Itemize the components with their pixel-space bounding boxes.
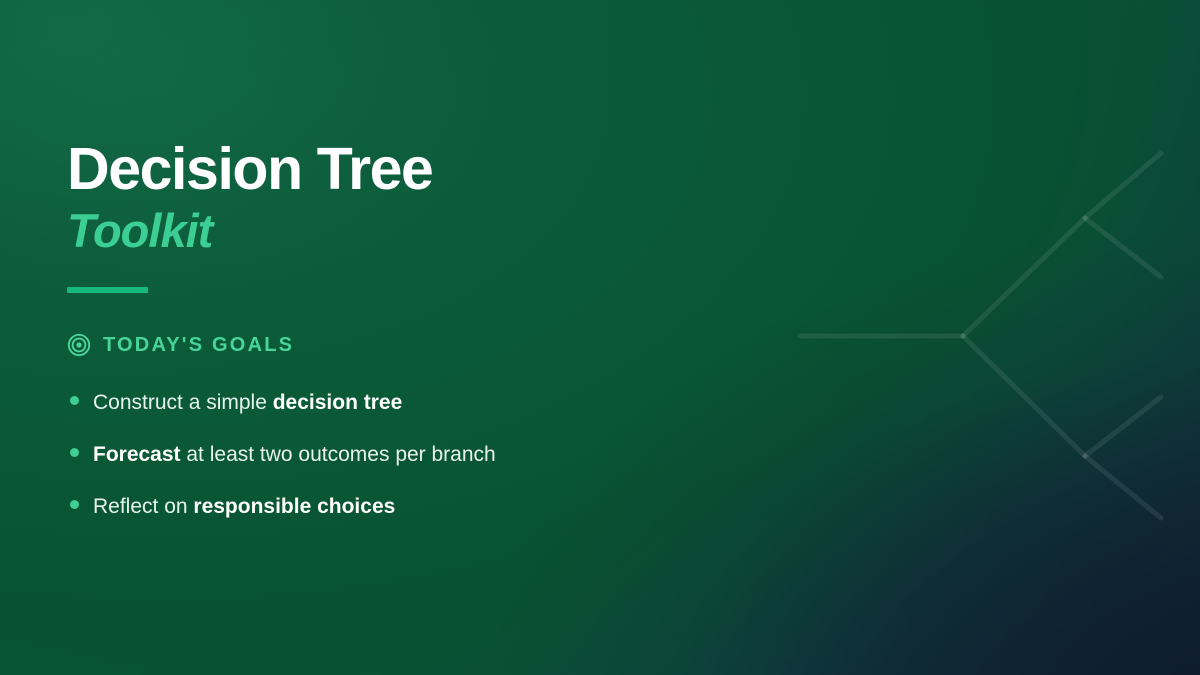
goal-strong: responsible choices (193, 495, 395, 518)
tree-leaf-lower-a (1085, 397, 1161, 456)
accent-rule (67, 287, 148, 293)
list-item: Reflect on responsible choices (70, 492, 690, 522)
goal-text: Reflect on responsible choices (93, 492, 395, 522)
list-item: Forecast at least two outcomes per branc… (70, 440, 690, 470)
goal-text: Construct a simple decision tree (93, 388, 402, 418)
list-item: Construct a simple decision tree (70, 388, 690, 418)
tree-leaf-upper-a (1085, 153, 1161, 218)
tree-branch-lower (963, 336, 1085, 456)
page-title: Decision Tree (67, 140, 432, 199)
tree-leaf-upper-b (1085, 218, 1161, 277)
goal-lead: Reflect on (93, 495, 193, 518)
title-block: Decision Tree Toolkit (67, 140, 432, 254)
bullet-dot (70, 500, 79, 509)
goals-header-label: TODAY'S GOALS (103, 334, 294, 357)
goal-text: Forecast at least two outcomes per branc… (93, 440, 496, 470)
goal-lead: Construct a simple (93, 391, 273, 414)
goals-list: Construct a simple decision tree Forecas… (70, 388, 690, 522)
target-icon (67, 333, 91, 357)
tree-branch-upper (963, 218, 1085, 336)
goal-strong: decision tree (273, 391, 403, 414)
page-subtitle: Toolkit (67, 207, 432, 254)
slide-content: Decision Tree Toolkit TODAY'S GOALS Cons… (67, 0, 707, 675)
slide-canvas: Decision Tree Toolkit TODAY'S GOALS Cons… (0, 0, 1200, 675)
goals-header: TODAY'S GOALS (67, 333, 294, 357)
tree-leaf-lower-b (1085, 456, 1161, 518)
bullet-dot (70, 448, 79, 457)
goal-strong: Forecast (93, 443, 181, 466)
goal-trail: at least two outcomes per branch (181, 443, 496, 466)
bullet-dot (70, 396, 79, 405)
